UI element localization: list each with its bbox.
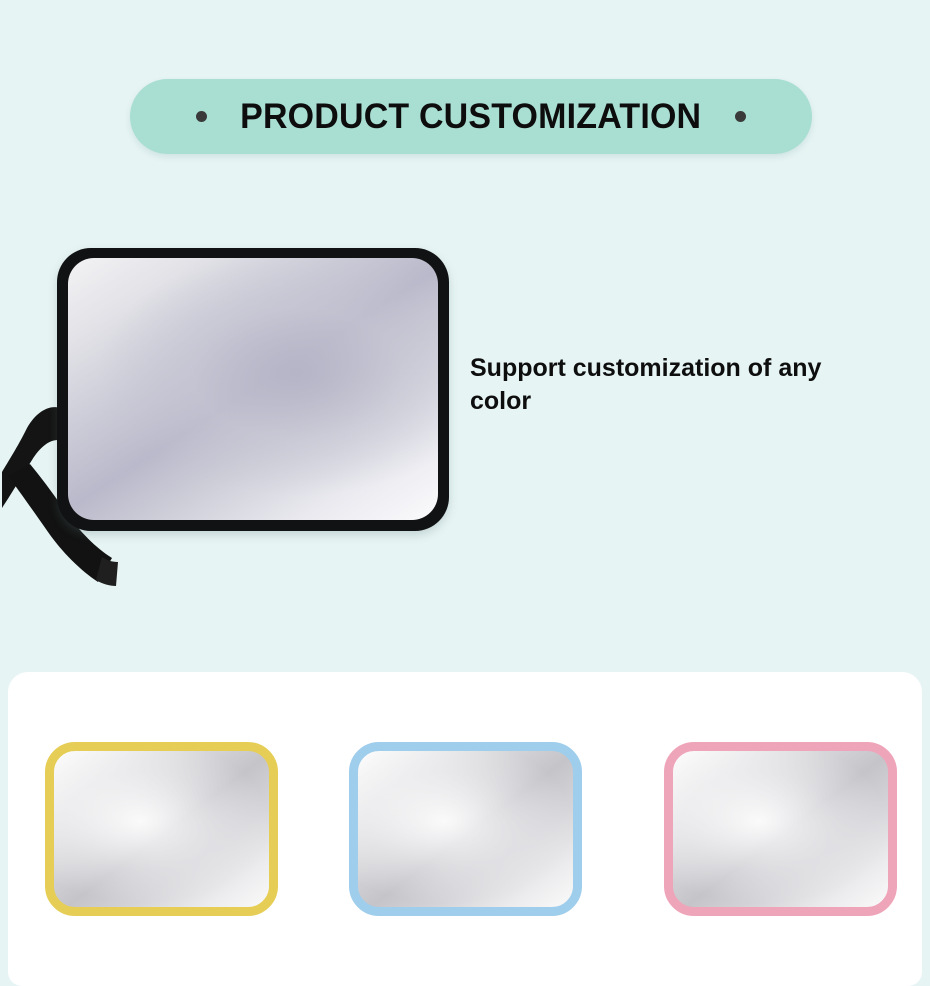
- product-mirror-black: [57, 248, 449, 531]
- decorative-dot-left-icon: [196, 111, 207, 122]
- variant-mirror-pink[interactable]: [664, 742, 897, 916]
- variant-mirror-blue[interactable]: [349, 742, 582, 916]
- hero-caption: Support customization of any color: [470, 352, 870, 418]
- header-banner-area: PRODUCT CUSTOMIZATION: [0, 0, 930, 200]
- hero-product-section: Support customization of any color: [0, 230, 930, 630]
- color-variants-row: [8, 672, 922, 986]
- page-title: PRODUCT CUSTOMIZATION: [240, 97, 701, 137]
- decorative-dot-right-icon: [735, 111, 746, 122]
- color-variants-panel: [8, 672, 922, 986]
- variant-mirror-yellow[interactable]: [45, 742, 278, 916]
- header-banner-pill: PRODUCT CUSTOMIZATION: [130, 79, 812, 154]
